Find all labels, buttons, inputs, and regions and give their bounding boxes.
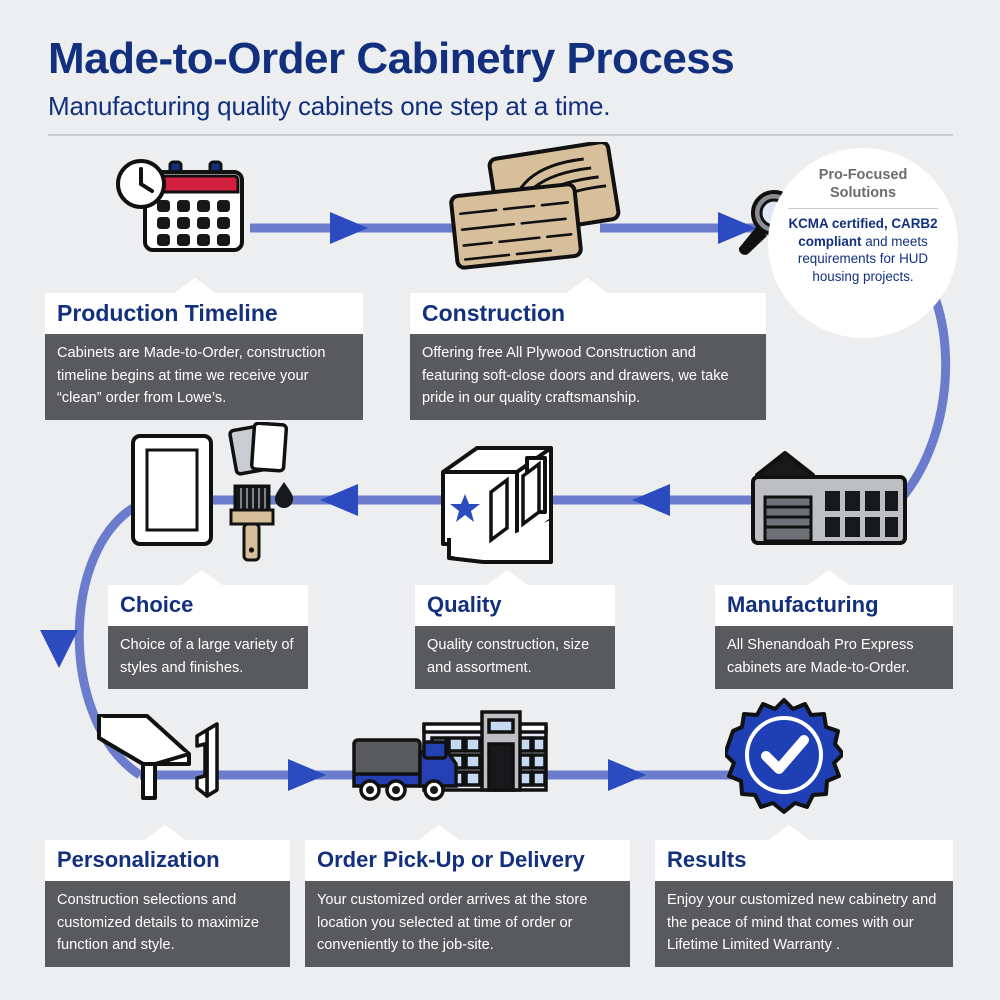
pro-focused-solutions-callout: Pro-Focused Solutions KCMA certified, CA…: [768, 148, 958, 338]
card-personalization: Personalization Construction selections …: [45, 840, 290, 967]
checkmark-badge-icon: [725, 698, 843, 816]
card-title: Choice: [108, 585, 308, 626]
card-pointer: [767, 825, 811, 841]
card-pointer: [807, 570, 851, 586]
card-pointer: [143, 825, 187, 841]
card-pointer: [173, 278, 217, 294]
card-body: Quality construction, size and assortmen…: [415, 626, 615, 689]
card-pointer: [417, 825, 461, 841]
callout-divider: [788, 208, 938, 209]
callout-body: KCMA certified, CARB2 compliant and meet…: [784, 215, 942, 285]
arrowhead-7: [608, 759, 646, 791]
factory-icon: [745, 447, 920, 557]
callout-title: Pro-Focused Solutions: [784, 166, 942, 202]
card-title: Construction: [410, 293, 766, 334]
calendar-clock-icon: [100, 152, 270, 267]
card-production-timeline: Production Timeline Cabinets are Made-to…: [45, 293, 363, 420]
card-choice: Choice Choice of a large variety of styl…: [108, 585, 308, 689]
card-body: Your customized order arrives at the sto…: [305, 881, 630, 967]
card-body: Offering free All Plywood Construction a…: [410, 334, 766, 420]
card-body: Construction selections and customized d…: [45, 881, 290, 967]
card-body: All Shenandoah Pro Express cabinets are …: [715, 626, 953, 689]
cabinet-door-paint-icon: [125, 422, 300, 567]
card-pointer: [485, 570, 529, 586]
arrowhead-1: [330, 212, 368, 244]
card-title: Order Pick-Up or Delivery: [305, 840, 630, 881]
cabinet-star-icon: [435, 442, 560, 567]
card-title: Production Timeline: [45, 293, 363, 334]
card-title: Quality: [415, 585, 615, 626]
arrowhead-5: [40, 630, 78, 668]
card-quality: Quality Quality construction, size and a…: [415, 585, 615, 689]
arrowhead-4: [320, 484, 358, 516]
arrowhead-6: [288, 759, 326, 791]
arrowhead-3: [632, 484, 670, 516]
infographic-canvas: Made-to-Order Cabinetry Process Manufact…: [0, 0, 1000, 1000]
card-body: Enjoy your customized new cabinetry and …: [655, 881, 953, 967]
card-body: Cabinets are Made-to-Order, construction…: [45, 334, 363, 420]
crown-molding-handle-icon: [85, 702, 250, 814]
plywood-boards-icon: [448, 142, 648, 274]
card-results: Results Enjoy your customized new cabine…: [655, 840, 953, 967]
card-title: Manufacturing: [715, 585, 953, 626]
card-order-pickup-delivery: Order Pick-Up or Delivery Your customize…: [305, 840, 630, 967]
truck-store-icon: [352, 700, 552, 812]
card-pointer: [565, 278, 609, 294]
card-title: Personalization: [45, 840, 290, 881]
card-manufacturing: Manufacturing All Shenandoah Pro Express…: [715, 585, 953, 689]
card-title: Results: [655, 840, 953, 881]
card-pointer: [180, 570, 224, 586]
card-body: Choice of a large variety of styles and …: [108, 626, 308, 689]
card-construction: Construction Offering free All Plywood C…: [410, 293, 766, 420]
